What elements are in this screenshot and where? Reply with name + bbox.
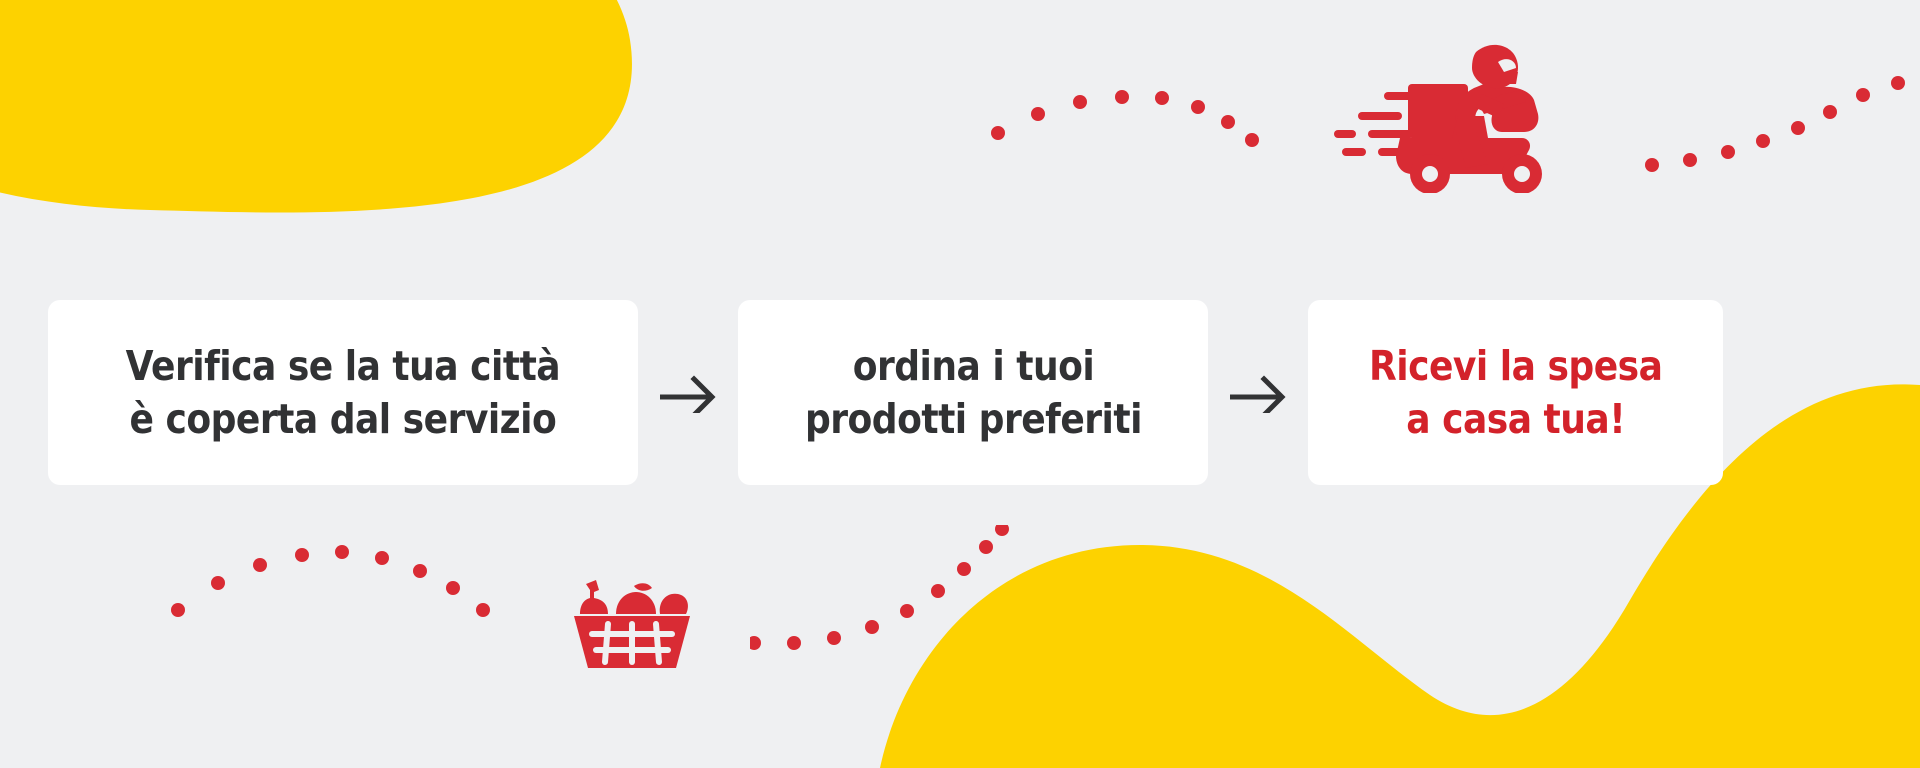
arrow-right-icon (1230, 373, 1286, 413)
steps-row: Verifica se la tua città è coperta dal s… (0, 300, 1920, 485)
step-arrow-1 (638, 300, 738, 485)
hero-banner: Verifica se la tua città è coperta dal s… (0, 0, 1920, 768)
step-card-1-label: Verifica se la tua città è coperta dal s… (126, 340, 561, 444)
arrow-right-icon (660, 373, 716, 413)
step-card-2-label: ordina i tuoi prodotti preferiti (805, 340, 1142, 444)
step-card-1[interactable]: Verifica se la tua città è coperta dal s… (48, 300, 638, 485)
step-card-2[interactable]: ordina i tuoi prodotti preferiti (738, 300, 1208, 485)
step-arrow-2 (1208, 300, 1308, 485)
step-card-3[interactable]: Ricevi la spesa a casa tua! (1308, 300, 1723, 485)
step-card-3-label: Ricevi la spesa a casa tua! (1369, 340, 1662, 444)
